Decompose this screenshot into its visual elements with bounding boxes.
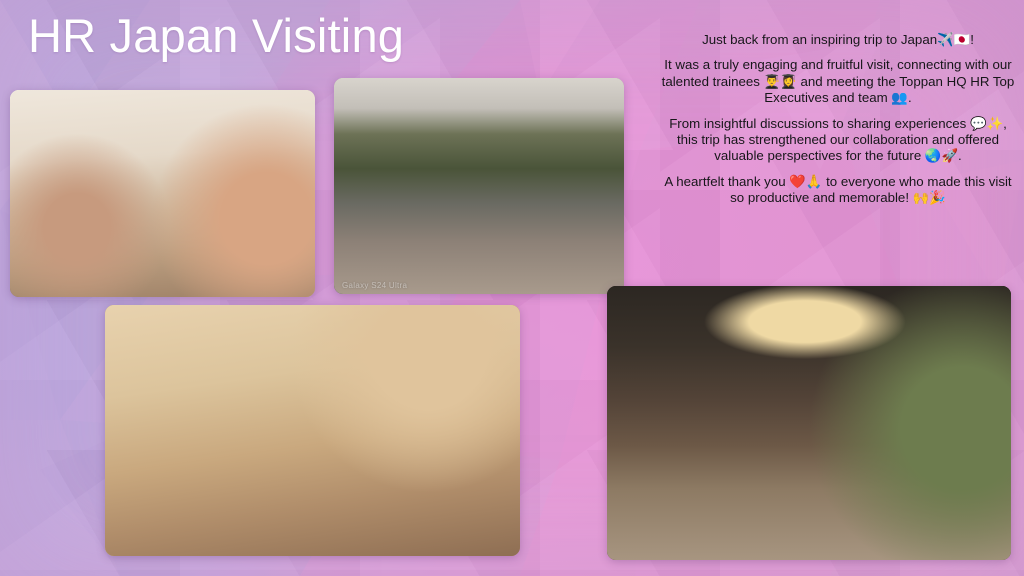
photo-watermark: Galaxy S24 Ultra — [342, 281, 407, 290]
narrative-text-block: Just back from an inspiring trip to Japa… — [660, 32, 1016, 207]
photo-night-street-group — [607, 286, 1011, 560]
photo-restaurant-group — [105, 305, 520, 556]
photo-izakaya-dinner — [10, 90, 315, 297]
photo-minibus-selfie: Galaxy S24 Ultra — [334, 78, 624, 294]
paragraph-1: Just back from an inspiring trip to Japa… — [660, 32, 1016, 48]
paragraph-4: A heartfelt thank you ❤️🙏 to everyone wh… — [660, 174, 1016, 207]
slide-canvas: HR Japan Visiting Just back from an insp… — [0, 0, 1024, 576]
paragraph-3: From insightful discussions to sharing e… — [660, 116, 1016, 165]
paragraph-2: It was a truly engaging and fruitful vis… — [660, 57, 1016, 106]
page-title: HR Japan Visiting — [28, 11, 404, 60]
